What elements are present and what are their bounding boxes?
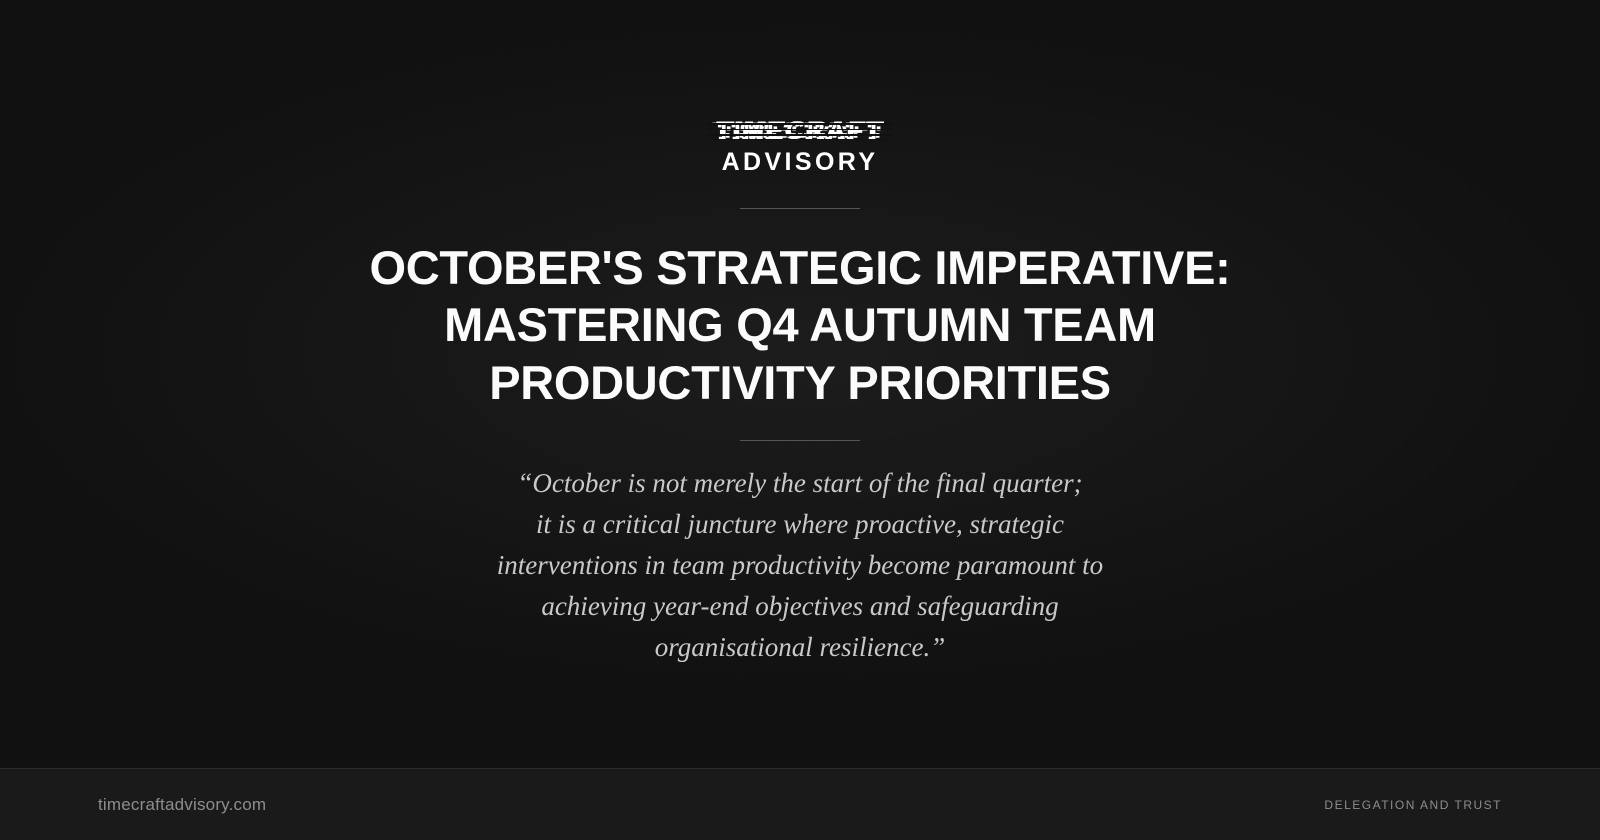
brand-logo: TIMECRAFT TIMECRAFT TIMECRAFT TIMECRAFT …	[716, 118, 884, 175]
slide-footer: timecraftadvisory.com DELEGATION AND TRU…	[0, 768, 1600, 840]
slide-title: OCTOBER'S STRATEGIC IMPERATIVE: MASTERIN…	[270, 239, 1330, 411]
glitch-cut-3	[708, 134, 892, 136]
presentation-slide: TIMECRAFT TIMECRAFT TIMECRAFT TIMECRAFT …	[0, 0, 1600, 840]
divider-below-title	[740, 440, 860, 441]
footer-section-label: DELEGATION AND TRUST	[1324, 798, 1502, 812]
glitch-cut-4	[708, 139, 892, 140]
glitch-cut-2	[708, 129, 892, 130]
slide-pull-quote: “October is not merely the start of the …	[497, 463, 1103, 668]
slide-content: TIMECRAFT TIMECRAFT TIMECRAFT TIMECRAFT …	[0, 0, 1600, 768]
brand-logo-secondary-text: ADVISORY	[722, 150, 879, 175]
brand-logo-primary-glitch: TIMECRAFT TIMECRAFT TIMECRAFT TIMECRAFT …	[716, 118, 884, 144]
footer-website: timecraftadvisory.com	[98, 795, 266, 815]
divider-above-title	[740, 208, 860, 209]
glitch-cut-1	[708, 123, 892, 125]
